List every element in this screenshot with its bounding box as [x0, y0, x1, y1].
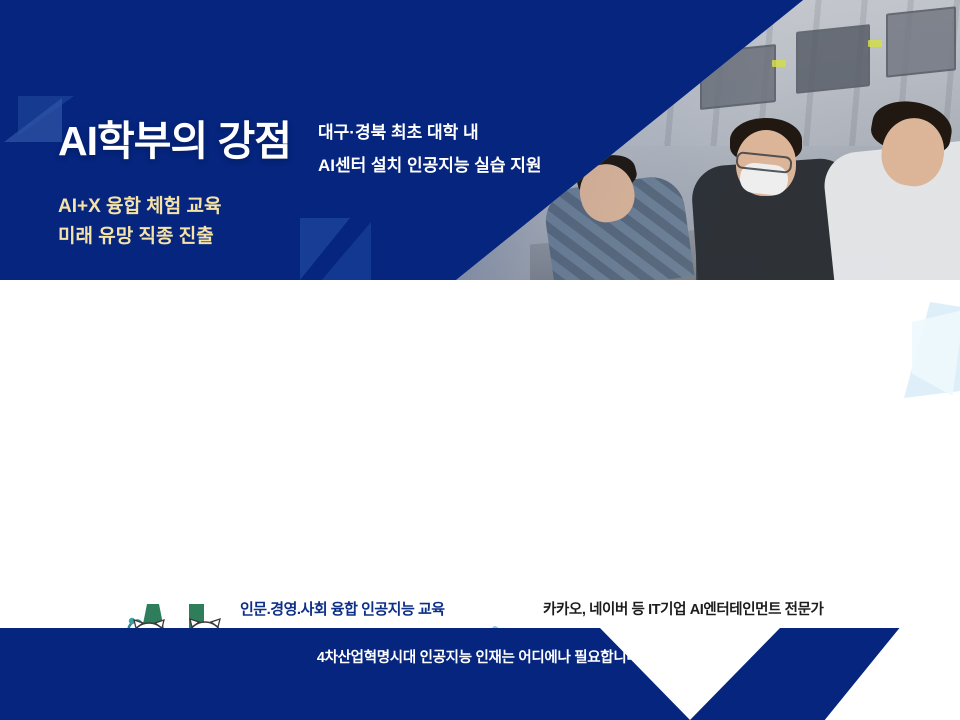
header-side-text: 대구·경북 최초 대학 내 AI센터 설치 인공지능 실습 지원	[318, 116, 542, 182]
outcome-line: 카카오, 네이버 등 IT기업 AI엔터테인먼트 전문가	[543, 596, 923, 624]
page-title: AI학부의 강점	[58, 107, 291, 167]
promo-slide: AI학부의 강점 대구·경북 최초 대학 내 AI센터 설치 인공지능 실습 지…	[0, 0, 960, 720]
footer-notch	[782, 628, 960, 720]
header-side-line-1: 대구·경북 최초 대학 내	[318, 116, 542, 149]
row1-headline: 인문.경영.사회 융합 인공지능 교육	[240, 598, 480, 619]
ai-mascot-logo-icon	[103, 592, 231, 628]
header-subtitle-line-2: 미래 유망 직종 진출	[58, 222, 222, 252]
department-logo: AI엔터테인먼트전공	[103, 592, 231, 628]
row1-left-text: 인문.경영.사회 융합 인공지능 교육 문과 학생 지원 가능 !	[240, 598, 480, 628]
footer-banner: 4차산업혁명시대 인공지능 인재는 어디에나 필요합니다.	[0, 628, 960, 720]
header-banner: AI학부의 강점 대구·경북 최초 대학 내 AI센터 설치 인공지능 실습 지…	[0, 0, 960, 280]
plain-text: 카카오, 네이버 등 IT기업 AI엔터테인먼트 전문가	[543, 602, 823, 618]
header-side-line-2: AI센터 설치 인공지능 실습 지원	[318, 149, 542, 182]
footer-notch	[600, 628, 780, 720]
footer-tagline: 4차산업혁명시대 인공지능 인재는 어디에나 필요합니다.	[0, 646, 960, 667]
content-area: AI엔터테인먼트전공 인문.경영.사회 융합 인공지능 교육 문과 학생 지원 …	[0, 280, 960, 628]
decorative-triangle	[315, 222, 371, 280]
header-subtitle: AI+X 융합 체험 교육 미래 유망 직종 진출	[58, 192, 222, 252]
header-subtitle-line-1: AI+X 융합 체험 교육	[58, 192, 222, 222]
row1-outcomes-list: 카카오, 네이버 등 IT기업 AI엔터테인먼트 전문가 마케팅, 경영, 콘텐…	[543, 596, 923, 628]
